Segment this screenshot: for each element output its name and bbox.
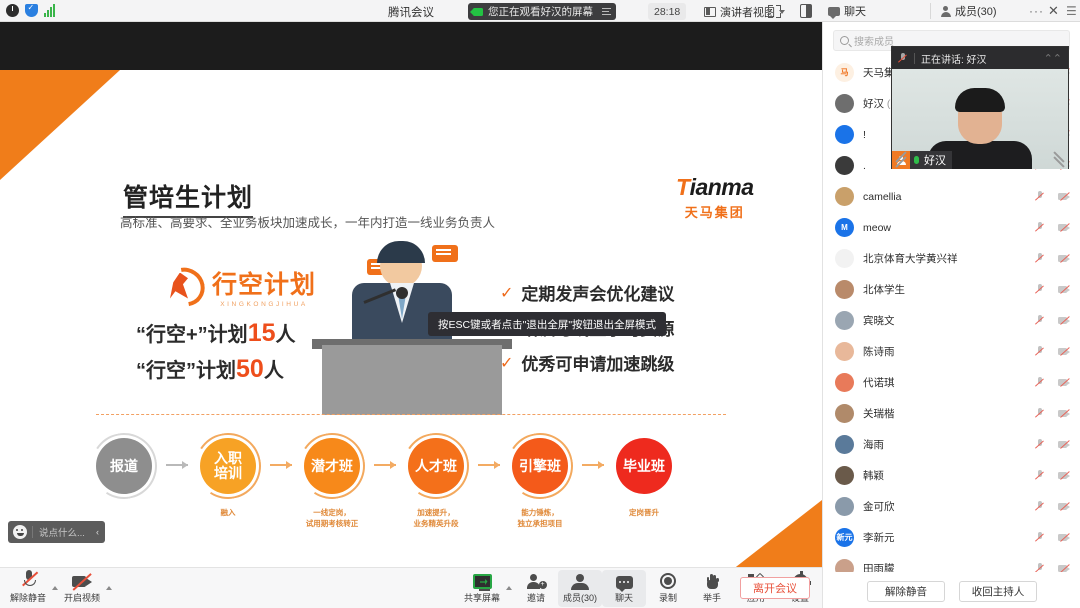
flow-node-caption: 一线定岗， 试用期考核转正 xyxy=(304,508,360,529)
signal-icon[interactable] xyxy=(44,4,57,17)
toolbar-raise-hand-label: 举手 xyxy=(703,591,721,604)
member-name: meow xyxy=(863,222,1033,234)
toolbar-mute-button[interactable]: 解除静音 xyxy=(6,570,50,607)
mic-off-icon[interactable] xyxy=(1033,222,1046,233)
record-icon xyxy=(660,572,676,589)
flow-arrow-icon xyxy=(166,464,188,466)
flow-node-arc xyxy=(501,427,579,505)
member-status-icons xyxy=(1033,470,1071,481)
app-title: 腾讯会议 xyxy=(388,4,434,20)
members-panel: 搜索成员 马天马集团 (我)好汉 (主持人)!.camelliaMmeow北京体… xyxy=(822,22,1080,608)
shield-icon[interactable] xyxy=(25,4,38,17)
member-name: 金可欣 xyxy=(863,499,1033,514)
flow-node-caption: 能力锤炼， 独立承担项目 xyxy=(512,508,568,529)
checklist-item: ✓优秀可申请加速跳级 xyxy=(500,350,674,375)
mic-options-chevron-icon[interactable] xyxy=(52,586,58,590)
flow-node-0: 报道 xyxy=(96,438,152,508)
member-row[interactable]: 陈诗雨 xyxy=(823,336,1080,367)
member-status-icons xyxy=(1033,377,1071,388)
avatar xyxy=(835,435,854,454)
flow-node-3: 人才班 加速提升， 业务精英升段 xyxy=(408,438,464,529)
active-speaker-video-frame: 好汉 xyxy=(892,69,1068,169)
menu-icon[interactable]: ☰ xyxy=(1066,4,1077,18)
mic-off-icon[interactable] xyxy=(1033,315,1046,326)
flow-node-arc xyxy=(189,427,267,505)
mic-off-icon[interactable] xyxy=(1033,532,1046,543)
top-members-button[interactable]: 成员(30) xyxy=(940,3,997,19)
mic-off-icon[interactable] xyxy=(1033,563,1046,572)
mic-off-icon[interactable] xyxy=(1033,346,1046,357)
avatar: 新元 xyxy=(835,528,854,547)
member-row[interactable]: 代诺琪 xyxy=(823,367,1080,398)
member-status-icons xyxy=(1033,346,1071,357)
speaking-banner-text: 正在讲话: 好汉 xyxy=(921,51,987,66)
toolbar-members-label: 成员(30) xyxy=(563,591,597,604)
meeting-timer: 28:18 xyxy=(648,3,686,20)
members-icon xyxy=(571,572,589,589)
toolbar-raise-hand-button[interactable]: 举手 xyxy=(690,570,734,607)
camera-off-icon[interactable] xyxy=(1058,315,1071,326)
resize-handle-bottom-right[interactable] xyxy=(1052,153,1066,167)
illustration-hair xyxy=(377,241,425,263)
camera-off-icon[interactable] xyxy=(1058,470,1071,481)
mic-off-icon[interactable] xyxy=(1033,408,1046,419)
resize-handle-bottom-left[interactable] xyxy=(894,153,908,167)
member-name: 李新元 xyxy=(863,530,1033,545)
camera-off-icon[interactable] xyxy=(1058,191,1071,202)
toolbar-chat-label: 聊天 xyxy=(615,591,633,604)
flow-node-caption: 加速提升， 业务精英升段 xyxy=(408,508,464,529)
member-row[interactable]: 宾晓文 xyxy=(823,305,1080,336)
exit-fullscreen-tooltip: 按ESC键或者点击"退出全屏"按钮退出全屏模式 xyxy=(428,312,666,336)
flow-node-5: 毕业班 定岗晋升 xyxy=(616,438,672,519)
close-icon[interactable]: ✕ xyxy=(1048,3,1059,19)
member-row[interactable]: 北体学生 xyxy=(823,274,1080,305)
avatar xyxy=(835,280,854,299)
speaker-view-icon xyxy=(704,7,716,17)
avatar xyxy=(835,373,854,392)
toolbar-video-button[interactable]: 开启视频 xyxy=(60,570,104,607)
checklist-item-label: 优秀可申请加速跳级 xyxy=(521,350,674,375)
xingkong-logo-text: 行空计划 XINGKONGJIHUA xyxy=(212,265,316,308)
xingkong-plan-logo: 行空计划 XINGKONGJIHUA xyxy=(165,265,316,308)
member-name: 北体学生 xyxy=(863,282,1033,297)
stat-2-suffix: 人 xyxy=(264,360,284,382)
toolbar-members-button[interactable]: 成员(30) xyxy=(558,570,602,607)
mic-active-icon xyxy=(910,151,923,169)
stat-line-2: “行空”计划50人 xyxy=(136,354,284,384)
share-screen-icon xyxy=(473,572,492,589)
member-status-icons xyxy=(1033,501,1071,512)
member-name: 韩颖 xyxy=(863,468,1033,483)
mic-off-icon[interactable] xyxy=(1033,253,1046,264)
chat-icon xyxy=(616,572,633,589)
active-speaker-video[interactable]: 正在讲话: 好汉 ⌃⌃ 好汉 xyxy=(891,46,1069,169)
avatar xyxy=(835,342,854,361)
stat-2-number: 50 xyxy=(236,355,264,383)
divider xyxy=(914,53,915,64)
chat-icon xyxy=(828,7,840,16)
meeting-window: 腾讯会议 您正在观看好汉的屏幕 28:18 演讲者视图 聊天 成员(30) ··… xyxy=(0,0,1080,608)
member-row[interactable]: Mmeow xyxy=(823,212,1080,243)
flow-node-caption: 融入 xyxy=(200,508,256,519)
avatar xyxy=(835,187,854,206)
flow-arrow-icon xyxy=(374,464,396,466)
avatar xyxy=(835,156,854,175)
stat-1-prefix: “行空+”计划 xyxy=(136,324,248,346)
share-banner-text: 您正在观看好汉的屏幕 xyxy=(488,4,593,19)
slide-subtitle: 高标准、高要求、全业务板块加速成长，一年内打造一线业务负责人 xyxy=(120,212,495,231)
camera-off-icon[interactable] xyxy=(1058,222,1071,233)
toolbar-share-screen-button[interactable]: 共享屏幕 xyxy=(460,570,504,607)
member-status-icons xyxy=(1033,532,1071,543)
top-chat-button[interactable]: 聊天 xyxy=(828,3,866,19)
camera-icon xyxy=(473,8,483,16)
flow-arrow-icon xyxy=(478,464,500,466)
reclaim-host-button[interactable]: 收回主持人 xyxy=(959,581,1037,602)
flow-arrow-icon xyxy=(582,464,604,466)
avatar xyxy=(835,94,854,113)
search-icon xyxy=(840,36,849,45)
slide-corner-decoration-top-left xyxy=(0,70,120,180)
search-placeholder: 搜索成员 xyxy=(854,33,894,48)
invite-icon: + xyxy=(527,572,546,589)
tianma-logo: Tianma 天马集团 xyxy=(676,174,754,221)
checklist-item-label: 定期发声会优化建议 xyxy=(521,280,674,305)
top-members-label: 成员(30) xyxy=(955,3,997,19)
flow-node-4: 引擎班 能力锤炼， 独立承担项目 xyxy=(512,438,568,529)
member-name: 宾晓文 xyxy=(863,313,1033,328)
mic-off-icon xyxy=(898,53,908,64)
stat-line-1: “行空+”计划15人 xyxy=(136,318,296,348)
mic-off-icon[interactable] xyxy=(1033,377,1046,388)
toolbar-chat-button[interactable]: 聊天 xyxy=(602,570,646,607)
member-name: 代诺琪 xyxy=(863,375,1033,390)
member-status-icons xyxy=(1033,253,1071,264)
camera-off-icon[interactable] xyxy=(1058,346,1071,357)
more-options-button[interactable]: ··· xyxy=(1029,4,1044,18)
person-icon xyxy=(940,6,951,17)
leave-meeting-button[interactable]: 离开会议 xyxy=(740,577,810,599)
quick-chat-placeholder[interactable]: 说点什么... xyxy=(33,525,90,539)
flow-node-arc xyxy=(85,427,163,505)
flow-node-circle: 毕业班 xyxy=(616,438,672,494)
top-bar-divider xyxy=(930,3,931,19)
flow-node-label: 毕业班 xyxy=(623,459,665,474)
stat-2-prefix: “行空”计划 xyxy=(136,360,236,382)
share-banner[interactable]: 您正在观看好汉的屏幕 xyxy=(468,3,616,20)
member-row[interactable]: 韩颖 xyxy=(823,460,1080,491)
slide-corner-decoration-bottom-right xyxy=(732,500,822,570)
camera-off-icon[interactable] xyxy=(1058,563,1071,572)
member-status-icons xyxy=(1033,191,1071,202)
avatar xyxy=(835,404,854,423)
member-row[interactable]: 田雨朦 xyxy=(823,553,1080,572)
mic-off-icon[interactable] xyxy=(1033,439,1046,450)
speaker-head xyxy=(958,92,1002,144)
shared-screen-stage: 管培生计划 高标准、高要求、全业务板块加速成长，一年内打造一线业务负责人 Tia… xyxy=(0,22,822,567)
stat-1-number: 15 xyxy=(248,319,276,347)
tianma-logo-en: Tianma xyxy=(676,174,754,201)
member-row[interactable]: 北京体育大学黄兴祥 xyxy=(823,243,1080,274)
horse-mark-icon xyxy=(165,268,205,306)
view-mode-label: 演讲者视图 xyxy=(720,4,775,20)
tianma-logo-rest: ianma xyxy=(690,174,754,200)
toolbar-share-label: 共享屏幕 xyxy=(464,591,500,604)
toolbar-mute-label: 解除静音 xyxy=(10,591,46,604)
avatar: M xyxy=(835,218,854,237)
panel-action-buttons: 解除静音 收回主持人 xyxy=(823,581,1080,602)
mic-off-icon xyxy=(22,572,35,589)
flow-node-arc xyxy=(293,427,371,505)
clock-icon[interactable] xyxy=(6,4,19,17)
camera-off-icon[interactable] xyxy=(1058,377,1071,388)
unmute-all-button[interactable]: 解除静音 xyxy=(867,581,945,602)
member-status-icons xyxy=(1033,563,1071,572)
presentation-slide: 管培生计划 高标准、高要求、全业务板块加速成长，一年内打造一线业务负责人 Tia… xyxy=(0,70,822,570)
toolbar-video-label: 开启视频 xyxy=(64,591,100,604)
member-name: 海雨 xyxy=(863,437,1033,452)
slide-divider xyxy=(96,414,726,415)
career-flow-diagram: 报道 入职 培训 融入 潜才班 一线定岗， 试用期考核转正 xyxy=(96,438,736,548)
list-icon[interactable] xyxy=(602,8,611,16)
chevron-left-icon[interactable]: ‹ xyxy=(90,527,105,537)
member-name: camellia xyxy=(863,191,1033,203)
member-status-icons xyxy=(1033,439,1071,450)
toolbar-invite-label: 邀请 xyxy=(527,591,545,604)
mic-off-icon[interactable] xyxy=(1033,284,1046,295)
split-view-icon[interactable] xyxy=(800,4,812,18)
member-status-icons xyxy=(1033,284,1071,295)
flow-node-arc xyxy=(397,427,475,505)
podium: 行空计划 xyxy=(322,345,502,415)
top-bar: 腾讯会议 您正在观看好汉的屏幕 28:18 演讲者视图 聊天 成员(30) ··… xyxy=(0,0,1080,22)
member-status-icons xyxy=(1033,408,1071,419)
checklist-item: ✓定期发声会优化建议 xyxy=(500,280,674,305)
tianma-logo-t: T xyxy=(676,174,690,200)
speaker-tag-name: 好汉 xyxy=(923,152,952,168)
speech-bubble-icon xyxy=(432,245,458,262)
avatar xyxy=(835,249,854,268)
flow-arrow-icon xyxy=(270,464,292,466)
camera-off-icon xyxy=(72,572,92,589)
active-speaker-header: 正在讲话: 好汉 ⌃⌃ xyxy=(892,47,1068,69)
top-chat-label: 聊天 xyxy=(844,3,866,19)
member-status-icons xyxy=(1033,222,1071,233)
member-row[interactable]: camellia xyxy=(823,181,1080,212)
avatar xyxy=(835,311,854,330)
chevron-collapse-icon[interactable]: ⌃⌃ xyxy=(1044,52,1062,65)
emoji-icon[interactable] xyxy=(13,525,27,539)
quick-chat-input-bar[interactable]: 说点什么... ‹ xyxy=(8,521,105,543)
flow-node-caption: 定岗晋升 xyxy=(616,508,672,519)
stat-1-suffix: 人 xyxy=(276,324,296,346)
bottom-toolbar: 解除静音 开启视频 共享屏幕 + 邀请 成员(30) 聊天 录制 xyxy=(0,567,822,608)
mic-off-icon[interactable] xyxy=(1033,191,1046,202)
camera-off-icon[interactable] xyxy=(1058,501,1071,512)
raise-hand-icon xyxy=(705,572,719,589)
member-name: 田雨朦 xyxy=(863,561,1033,572)
toolbar-record-label: 录制 xyxy=(659,591,677,604)
toolbar-record-button[interactable]: 录制 xyxy=(646,570,690,607)
avatar xyxy=(835,497,854,516)
microphone-icon xyxy=(396,287,408,299)
xingkong-logo-en: XINGKONGJIHUA xyxy=(212,301,316,308)
collapse-icon[interactable] xyxy=(768,5,781,18)
member-name: 关瑞楷 xyxy=(863,406,1033,421)
avatar xyxy=(835,559,854,572)
avatar xyxy=(835,125,854,144)
flow-node-2: 潜才班 一线定岗， 试用期考核转正 xyxy=(304,438,360,529)
camera-off-icon[interactable] xyxy=(1058,284,1071,295)
video-options-chevron-icon[interactable] xyxy=(106,586,112,590)
camera-off-icon[interactable] xyxy=(1058,253,1071,264)
mic-off-icon[interactable] xyxy=(1033,501,1046,512)
top-bar-status-icons xyxy=(0,4,300,17)
share-options-chevron-icon[interactable] xyxy=(506,586,512,590)
member-row[interactable]: 关瑞楷 xyxy=(823,398,1080,429)
member-name: 陈诗雨 xyxy=(863,344,1033,359)
camera-off-icon[interactable] xyxy=(1058,439,1071,450)
member-row[interactable]: 新元李新元 xyxy=(823,522,1080,553)
tianma-logo-cn: 天马集团 xyxy=(676,202,754,221)
xingkong-logo-cn: 行空计划 xyxy=(212,265,316,301)
member-row[interactable]: 金可欣 xyxy=(823,491,1080,522)
avatar xyxy=(835,466,854,485)
avatar: 马 xyxy=(835,63,854,82)
camera-off-icon[interactable] xyxy=(1058,408,1071,419)
speaker-hair xyxy=(955,88,1005,112)
member-name: 北京体育大学黄兴祥 xyxy=(863,251,1033,266)
member-status-icons xyxy=(1033,315,1071,326)
mic-off-icon[interactable] xyxy=(1033,470,1046,481)
toolbar-invite-button[interactable]: + 邀请 xyxy=(514,570,558,607)
flow-node-1: 入职 培训 融入 xyxy=(200,438,256,519)
camera-off-icon[interactable] xyxy=(1058,532,1071,543)
member-row[interactable]: 海雨 xyxy=(823,429,1080,460)
